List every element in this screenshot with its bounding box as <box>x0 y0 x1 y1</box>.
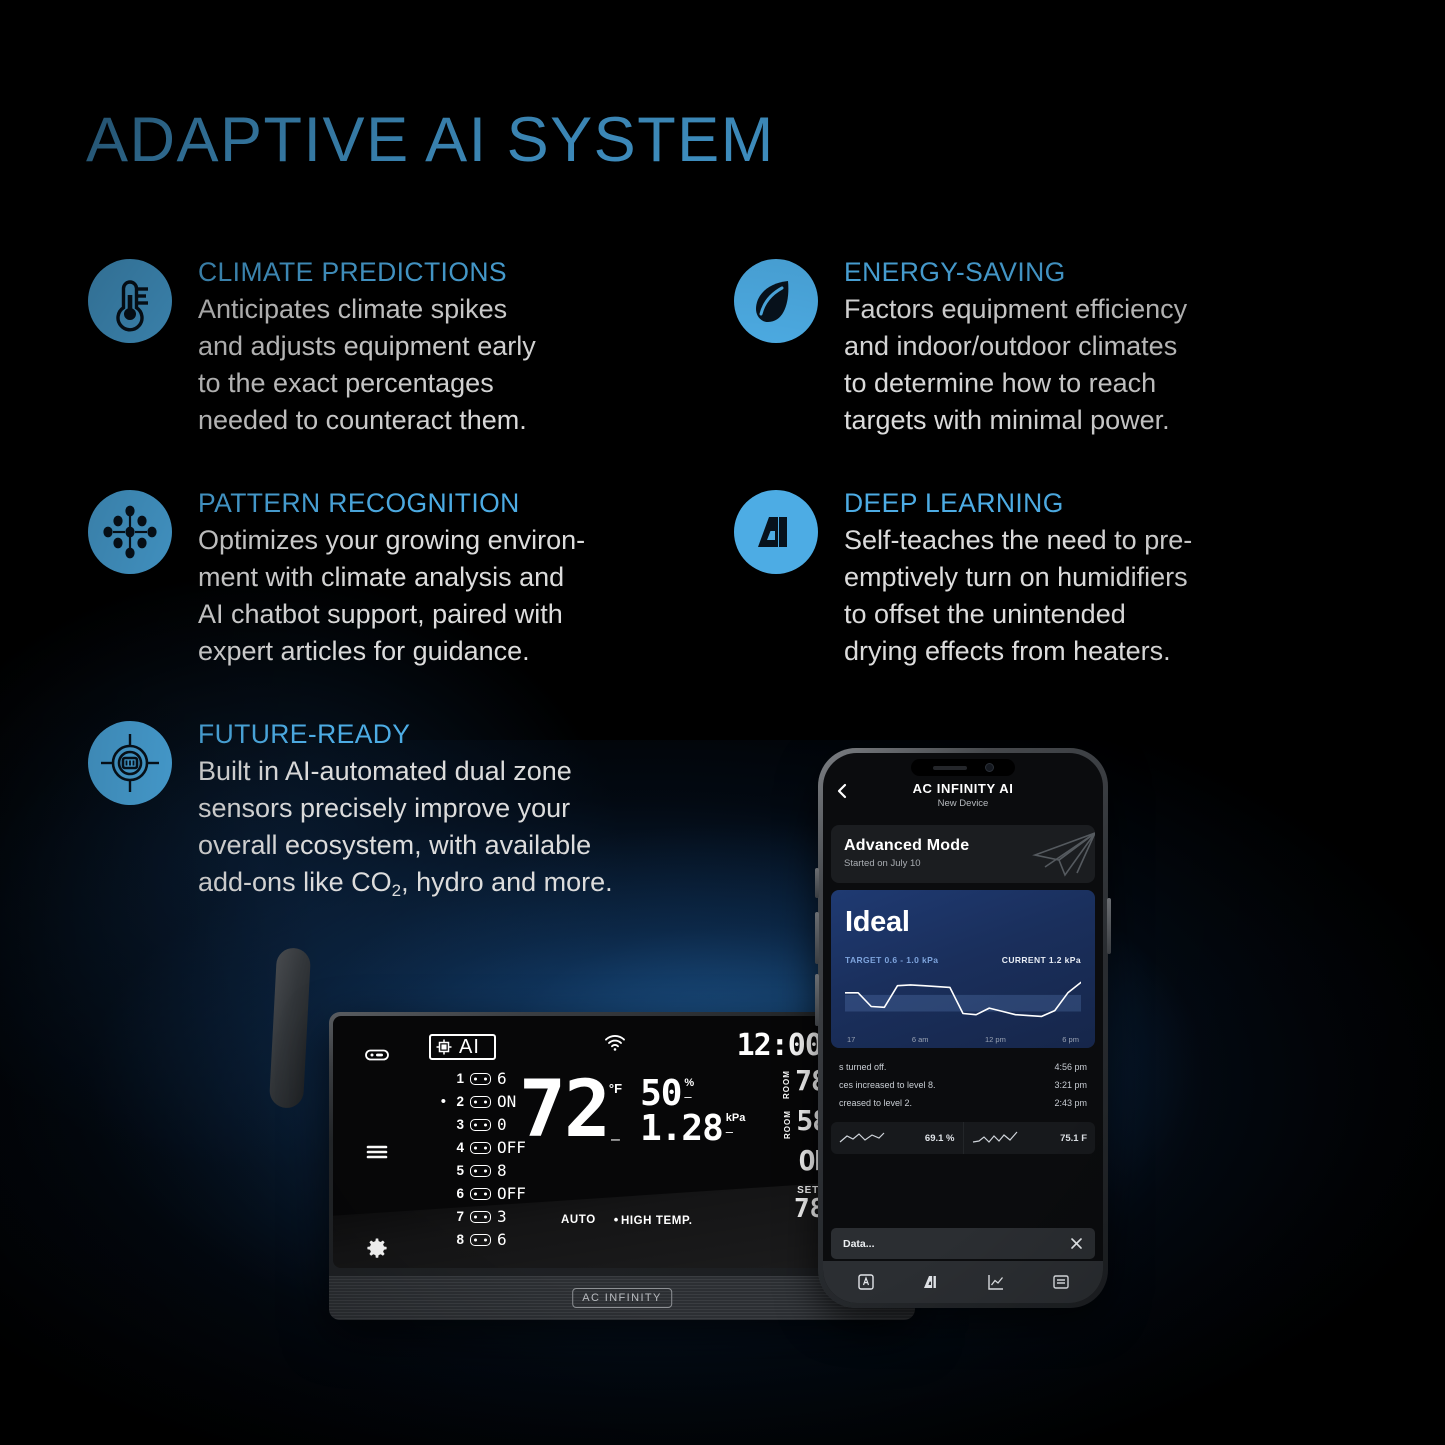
port-value: 6 <box>497 1071 507 1087</box>
vpd-value: 1.28 <box>640 1113 723 1145</box>
port-number: 1 <box>452 1071 464 1086</box>
stat-value: 75.1 F <box>1060 1133 1087 1144</box>
close-icon[interactable] <box>1070 1237 1083 1250</box>
back-chevron-icon[interactable] <box>835 783 849 799</box>
port-row[interactable]: 30 <box>437 1114 526 1135</box>
wifi-icon <box>604 1034 626 1052</box>
feature-future-ready: FUTURE-READY Built in AI-automated dual … <box>88 717 613 900</box>
vpd-chart: 176 am12 pm6 pm <box>845 970 1081 1044</box>
port-value: 0 <box>497 1117 507 1133</box>
outlet-port-icon[interactable] <box>364 1042 390 1068</box>
menu-icon[interactable] <box>364 1139 390 1165</box>
feature-deep-learning: DEEP LEARNING Self-teaches the need to p… <box>734 486 1192 669</box>
port-row[interactable]: 16 <box>437 1068 526 1089</box>
port-value: 6 <box>497 1232 507 1248</box>
feature-heading: DEEP LEARNING <box>844 488 1192 519</box>
chart-icon[interactable] <box>986 1272 1006 1292</box>
plug-icon <box>470 1165 491 1177</box>
port-row[interactable]: 4OFF <box>437 1137 526 1158</box>
port-row[interactable]: 6OFF <box>437 1183 526 1204</box>
temperature-trend-dash: – <box>609 1132 622 1148</box>
surface-reflection: AC INFINITY ▣AI◹☰ <box>0 1340 1445 1445</box>
humidity-value: 50 <box>640 1078 681 1110</box>
vpd-chart-svg <box>845 970 1081 1028</box>
port-value: 3 <box>497 1209 507 1225</box>
port-active-dot: • <box>437 1094 446 1109</box>
activity-log-list: s turned off.4:56 pmces increased to lev… <box>831 1050 1095 1116</box>
chip-icon <box>435 1038 453 1056</box>
sensor-target-icon <box>88 721 172 805</box>
ai-icon[interactable] <box>921 1272 941 1292</box>
chart-tick: 6 pm <box>1062 1035 1079 1044</box>
phone-mute-switch[interactable] <box>815 868 819 898</box>
humidity-trend-dash: – <box>684 1090 691 1103</box>
phone-volume-down[interactable] <box>815 974 819 1026</box>
ai-logo-icon <box>734 490 818 574</box>
port-value: 8 <box>497 1163 507 1179</box>
phone-mockup: AC INFINITY AI New Device Advanced Mode … <box>818 748 1108 1308</box>
device-box-icon[interactable] <box>856 1272 876 1292</box>
port-list: 16•2ON304OFF586OFF7386 <box>437 1068 526 1250</box>
alert-label: •HIGH TEMP. <box>614 1212 693 1227</box>
antenna <box>269 947 311 1109</box>
main-readout: 72 °F – 50 % – <box>519 1078 745 1148</box>
ideal-title: Ideal <box>845 906 1081 939</box>
feature-body: Factors equipment efficiency and indoor/… <box>844 291 1187 438</box>
log-row[interactable]: creased to level 2.2:43 pm <box>833 1094 1093 1112</box>
chart-tick: 6 am <box>912 1035 929 1044</box>
room-hum-label: ROOM <box>783 1113 792 1139</box>
ai-badge-label: AI <box>459 1037 480 1057</box>
ai-mode-badge[interactable]: AI <box>429 1034 496 1060</box>
phone-volume-up[interactable] <box>815 912 819 964</box>
phone-notch <box>911 759 1015 776</box>
plug-icon <box>470 1142 491 1154</box>
list-icon[interactable] <box>1051 1272 1071 1292</box>
feature-body: Anticipates climate spikes and adjusts e… <box>198 291 536 438</box>
feature-body: Built in AI-automated dual zone sensors … <box>198 753 613 900</box>
feature-body: Optimizes your growing environ- ment wit… <box>198 522 585 669</box>
stat-value: 69.1 % <box>925 1133 955 1144</box>
chart-x-ticks: 176 am12 pm6 pm <box>845 1035 1081 1044</box>
port-row[interactable]: 58 <box>437 1160 526 1181</box>
app-subtitle: New Device <box>837 798 1089 809</box>
plug-icon <box>470 1119 491 1131</box>
port-number: 2 <box>452 1094 464 1109</box>
feature-body: Self-teaches the need to pre- emptively … <box>844 522 1192 669</box>
log-time: 3:21 pm <box>1054 1080 1087 1090</box>
sparkline-icon <box>839 1130 885 1146</box>
gear-icon[interactable] <box>364 1236 390 1262</box>
port-row[interactable]: 73 <box>437 1206 526 1227</box>
feature-heading: FUTURE-READY <box>198 719 613 750</box>
mode-label: AUTO <box>561 1214 596 1226</box>
advanced-mode-card[interactable]: Advanced Mode Started on July 10 <box>831 825 1095 883</box>
app-title: AC INFINITY AI <box>837 781 1089 796</box>
port-value: ON <box>497 1094 516 1110</box>
feature-climate-predictions: CLIMATE PREDICTIONS Anticipates climate … <box>88 255 536 438</box>
front-camera <box>985 763 994 772</box>
thermometer-icon <box>88 259 172 343</box>
chart-tick: 12 pm <box>985 1035 1006 1044</box>
feature-heading: ENERGY-SAVING <box>844 257 1187 288</box>
room-temp-label: ROOM <box>782 1073 791 1099</box>
temperature-readout: 72 °F – <box>519 1078 622 1148</box>
data-banner[interactable]: Data... <box>831 1228 1095 1259</box>
plug-icon <box>470 1096 491 1108</box>
stat-temperature[interactable]: 75.1 F <box>964 1122 1096 1154</box>
phone-screen: AC INFINITY AI New Device Advanced Mode … <box>823 753 1103 1303</box>
target-label: TARGET 0.6 - 1.0 kPa <box>845 955 938 965</box>
port-value: OFF <box>497 1186 526 1202</box>
log-time: 4:56 pm <box>1054 1062 1087 1072</box>
feature-pattern-recognition: PATTERN RECOGNITION Optimizes your growi… <box>88 486 585 669</box>
humidity-unit: % <box>684 1078 694 1090</box>
plug-icon <box>470 1234 491 1246</box>
port-number: 5 <box>452 1163 464 1178</box>
leaf-drop-icon <box>734 259 818 343</box>
paper-plane-decoration-icon <box>1015 829 1095 879</box>
data-banner-text: Data... <box>843 1238 875 1250</box>
brand-logo: AC INFINITY <box>572 1288 672 1308</box>
port-row[interactable]: •2ON <box>437 1091 526 1112</box>
earpiece-speaker <box>933 766 967 770</box>
port-number: 4 <box>452 1140 464 1155</box>
port-row[interactable]: 86 <box>437 1229 526 1250</box>
stat-humidity[interactable]: 69.1 % <box>831 1122 964 1154</box>
log-time: 2:43 pm <box>1054 1098 1087 1108</box>
temperature-unit: °F <box>609 1082 622 1095</box>
ideal-status-card[interactable]: Ideal TARGET 0.6 - 1.0 kPa CURRENT 1.2 k… <box>831 890 1095 1048</box>
sparkline-icon <box>972 1130 1018 1146</box>
clock-time: 12:00 <box>737 1032 822 1059</box>
feature-energy-saving: ENERGY-SAVING Factors equipment efficien… <box>734 255 1187 438</box>
feature-heading: PATTERN RECOGNITION <box>198 488 585 519</box>
phone-frame: AC INFINITY AI New Device Advanced Mode … <box>818 748 1108 1308</box>
plug-icon <box>470 1073 491 1085</box>
phone-power-button[interactable] <box>1107 898 1111 954</box>
status-row: AUTO •HIGH TEMP. <box>561 1212 693 1227</box>
poster-canvas: ADAPTIVE AI SYSTEM CLIMATE PREDICTIONS A… <box>0 0 1445 1445</box>
current-label: CURRENT 1.2 kPa <box>1002 955 1081 965</box>
log-row[interactable]: ces increased to level 8.3:21 pm <box>833 1076 1093 1094</box>
ideal-meta-row: TARGET 0.6 - 1.0 kPa CURRENT 1.2 kPa <box>845 955 1081 965</box>
temperature-value: 72 <box>519 1078 609 1144</box>
log-text: creased to level 2. <box>839 1098 912 1108</box>
stat-strip: 69.1 % 75.1 F <box>831 1122 1095 1154</box>
port-number: 7 <box>452 1209 464 1224</box>
port-number: 6 <box>452 1186 464 1201</box>
page-title: ADAPTIVE AI SYSTEM <box>86 104 775 176</box>
feature-heading: CLIMATE PREDICTIONS <box>198 257 536 288</box>
node-network-icon <box>88 490 172 574</box>
plug-icon <box>470 1211 491 1223</box>
chart-tick: 17 <box>847 1035 855 1044</box>
lcd-left-icon-rail <box>355 1030 399 1268</box>
bottom-tab-bar <box>823 1261 1103 1303</box>
port-number: 8 <box>452 1232 464 1247</box>
port-number: 3 <box>452 1117 464 1132</box>
plug-icon <box>470 1188 491 1200</box>
log-text: ces increased to level 8. <box>839 1080 936 1090</box>
log-text: s turned off. <box>839 1062 886 1072</box>
log-row[interactable]: s turned off.4:56 pm <box>833 1058 1093 1076</box>
